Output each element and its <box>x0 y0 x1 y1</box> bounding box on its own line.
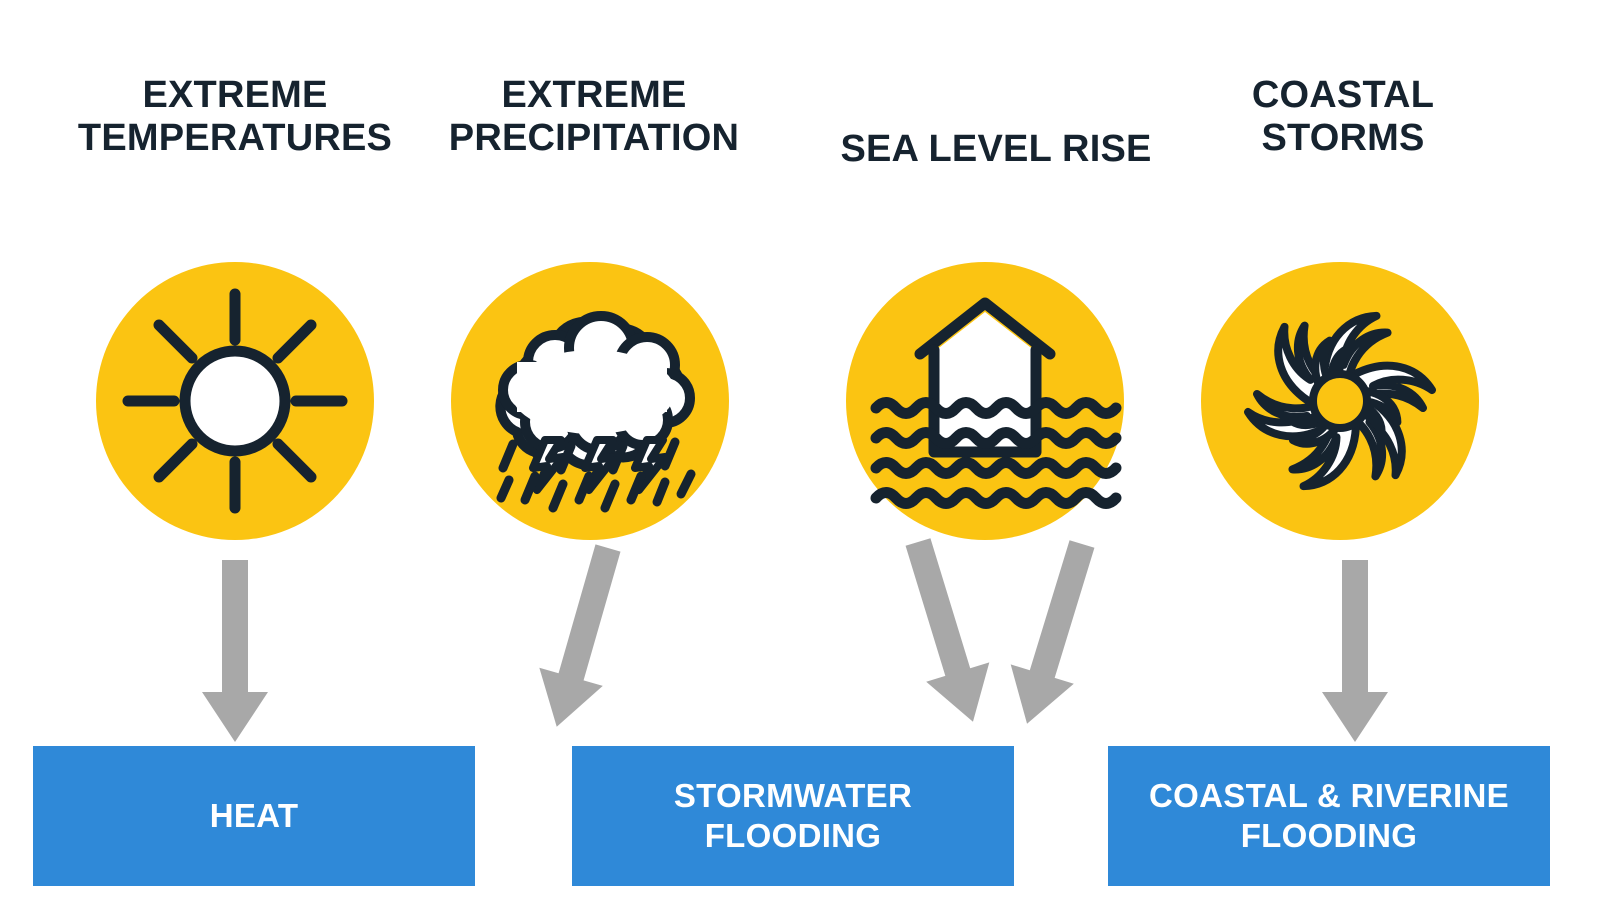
hazard-icon-circle-extreme-temperatures <box>96 262 374 540</box>
thunderstorm-rain-cloud-icon <box>451 262 729 540</box>
climate-hazard-flow-diagram: EXTREME TEMPERATURES EXTREME PRECIPITATI… <box>0 0 1600 900</box>
hurricane-icon <box>1201 262 1479 540</box>
impact-box-stormwater-flooding[interactable]: STORMWATER FLOODING <box>572 746 1014 886</box>
arrow-coastal-storms-to-coastal-riverine-flooding <box>1322 560 1388 742</box>
hazard-icon-circle-sea-level-rise <box>846 262 1124 540</box>
arrow-extreme-precipitation-to-stormwater-flooding <box>525 539 640 736</box>
sun-icon <box>96 262 374 540</box>
arrow-sea-level-rise-to-coastal-riverine-flooding <box>995 534 1113 733</box>
impact-label-heat: HEAT <box>210 796 299 836</box>
hazard-icon-circle-extreme-precipitation <box>451 262 729 540</box>
flooded-house-waves-icon <box>846 262 1124 540</box>
hazard-heading-extreme-precipitation: EXTREME PRECIPITATION <box>408 74 780 159</box>
impact-label-coastal-riverine-flooding: COASTAL & RIVERINE FLOODING <box>1149 776 1509 857</box>
hazard-heading-coastal-storms: COASTAL STORMS <box>1190 74 1496 159</box>
arrow-extreme-temperatures-to-heat <box>202 560 268 742</box>
impact-box-coastal-riverine-flooding[interactable]: COASTAL & RIVERINE FLOODING <box>1108 746 1550 886</box>
impact-box-heat[interactable]: HEAT <box>33 746 475 886</box>
arrow-sea-level-rise-to-stormwater-flooding <box>886 532 1004 731</box>
hazard-heading-extreme-temperatures: EXTREME TEMPERATURES <box>55 74 415 159</box>
hazard-heading-sea-level-rise: SEA LEVEL RISE <box>800 128 1192 171</box>
hazard-icon-circle-coastal-storms <box>1201 262 1479 540</box>
impact-label-stormwater-flooding: STORMWATER FLOODING <box>674 776 912 857</box>
